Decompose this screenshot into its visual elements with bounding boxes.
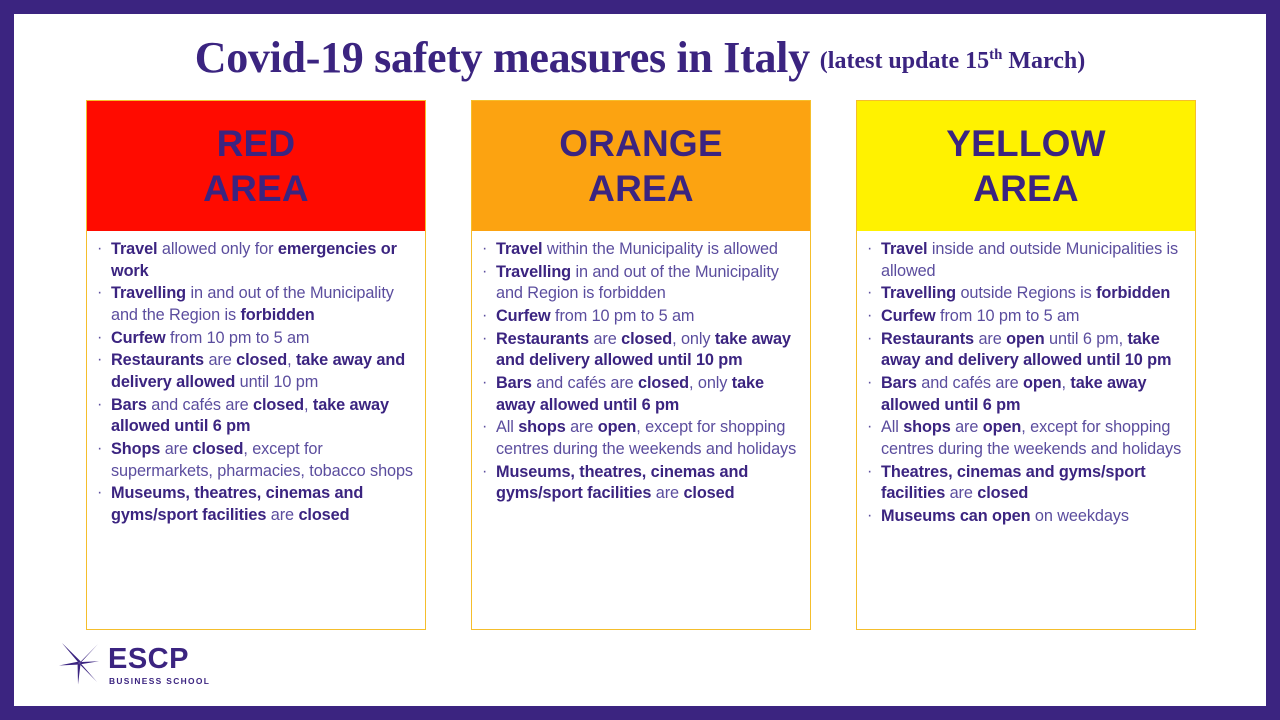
measure-emphasis: Travel bbox=[881, 240, 927, 258]
measure-text: All bbox=[881, 418, 903, 436]
bullet-icon: · bbox=[482, 416, 487, 437]
bullet-icon: · bbox=[867, 505, 872, 526]
measure-text: are bbox=[204, 351, 236, 369]
bullet-icon: · bbox=[97, 282, 102, 303]
measure-list: ·Travel within the Municipality is allow… bbox=[481, 239, 800, 505]
measure-emphasis: Curfew bbox=[496, 307, 551, 325]
list-item: ·Restaurants are closed, only take away … bbox=[481, 329, 800, 372]
bullet-icon: · bbox=[97, 349, 102, 370]
measure-emphasis: shops bbox=[903, 418, 950, 436]
measure-text: are bbox=[160, 440, 192, 458]
bullet-icon: · bbox=[867, 372, 872, 393]
measure-emphasis: closed bbox=[253, 396, 304, 414]
page-title: Covid-19 safety measures in Italy(latest… bbox=[14, 32, 1266, 83]
measure-text: are bbox=[945, 484, 977, 502]
escp-logo-text: ESCP BUSINESS SCHOOL bbox=[108, 645, 210, 685]
measure-emphasis: Restaurants bbox=[496, 330, 589, 348]
area-header-line1: YELLOW bbox=[946, 121, 1105, 166]
list-item: ·Travel within the Municipality is allow… bbox=[481, 239, 800, 261]
bullet-icon: · bbox=[482, 461, 487, 482]
title-main-text: Covid-19 safety measures in Italy bbox=[195, 33, 810, 82]
measure-text: are bbox=[566, 418, 598, 436]
measure-emphasis: closed bbox=[977, 484, 1028, 502]
list-item: ·Restaurants are open until 6 pm, take a… bbox=[866, 329, 1185, 372]
area-header-line1: ORANGE bbox=[559, 121, 723, 166]
measure-text: and cafés are bbox=[532, 374, 638, 392]
list-item: ·Travelling outside Regions is forbidden bbox=[866, 283, 1185, 305]
area-card-red: REDAREA·Travel allowed only for emergenc… bbox=[86, 100, 426, 630]
measure-text: allowed only for bbox=[157, 240, 277, 258]
bullet-icon: · bbox=[867, 282, 872, 303]
area-card-orange: ORANGEAREA·Travel within the Municipalit… bbox=[471, 100, 811, 630]
measure-text: , only bbox=[689, 374, 732, 392]
measure-text: are bbox=[651, 484, 683, 502]
bullet-icon: · bbox=[97, 238, 102, 259]
list-item: ·Museums, theatres, cinemas and gyms/spo… bbox=[481, 462, 800, 505]
list-item: ·Travelling in and out of the Municipali… bbox=[481, 262, 800, 305]
measure-text: on weekdays bbox=[1031, 507, 1129, 525]
measure-emphasis: shops bbox=[518, 418, 565, 436]
list-item: ·Travel inside and outside Municipalitie… bbox=[866, 239, 1185, 282]
list-item: · Shops are closed, except for supermark… bbox=[96, 439, 415, 482]
measure-emphasis: Travelling bbox=[496, 263, 571, 281]
list-item: ·Bars and cafés are closed, only take aw… bbox=[481, 373, 800, 416]
bullet-icon: · bbox=[97, 327, 102, 348]
list-item: ·Travelling in and out of the Municipali… bbox=[96, 283, 415, 326]
list-item: ·Restaurants are closed, take away and d… bbox=[96, 350, 415, 393]
area-body-red: ·Travel allowed only for emergencies or … bbox=[87, 231, 425, 629]
measure-text: until 6 pm, bbox=[1045, 330, 1128, 348]
measure-emphasis: Bars bbox=[881, 374, 917, 392]
slide-content-area: Covid-19 safety measures in Italy(latest… bbox=[14, 14, 1266, 706]
title-note-superscript: th bbox=[989, 47, 1002, 63]
bullet-icon: · bbox=[482, 328, 487, 349]
measure-text: All bbox=[496, 418, 518, 436]
area-header-red: REDAREA bbox=[87, 101, 425, 231]
measure-emphasis: closed bbox=[638, 374, 689, 392]
area-columns: REDAREA·Travel allowed only for emergenc… bbox=[86, 100, 1196, 630]
measure-emphasis: Travel bbox=[496, 240, 542, 258]
bullet-icon: · bbox=[97, 394, 102, 415]
list-item: ·Museums, theatres, cinemas and gyms/spo… bbox=[96, 483, 415, 526]
measure-emphasis: Restaurants bbox=[881, 330, 974, 348]
measure-emphasis: Bars bbox=[111, 396, 147, 414]
measure-text: outside Regions is bbox=[956, 284, 1096, 302]
area-body-yellow: ·Travel inside and outside Municipalitie… bbox=[857, 231, 1195, 629]
bullet-icon: · bbox=[97, 482, 102, 503]
measure-emphasis: closed bbox=[621, 330, 672, 348]
bullet-icon: · bbox=[867, 461, 872, 482]
measure-text: until 10 pm bbox=[235, 373, 318, 391]
slide: Covid-19 safety measures in Italy(latest… bbox=[0, 0, 1280, 720]
measure-emphasis: forbidden bbox=[240, 306, 314, 324]
bullet-icon: · bbox=[482, 238, 487, 259]
measure-text: and cafés are bbox=[917, 374, 1023, 392]
bullet-icon: · bbox=[482, 305, 487, 326]
area-header-line1: RED bbox=[217, 121, 296, 166]
measure-text: , bbox=[304, 396, 313, 414]
list-item: ·Museums can open on weekdays bbox=[866, 506, 1185, 528]
escp-tagline: BUSINESS SCHOOL bbox=[109, 677, 210, 685]
measure-text: and cafés are bbox=[147, 396, 253, 414]
measure-text: from 10 pm to 5 am bbox=[551, 307, 695, 325]
list-item: ·All shops are open, except for shopping… bbox=[481, 417, 800, 460]
list-item: ·All shops are open, except for shopping… bbox=[866, 417, 1185, 460]
escp-name: ESCP bbox=[108, 645, 210, 674]
list-item: ·Curfew from 10 pm to 5 am bbox=[866, 306, 1185, 328]
measure-emphasis: Shops bbox=[111, 440, 160, 458]
area-card-yellow: YELLOWAREA·Travel inside and outside Mun… bbox=[856, 100, 1196, 630]
measure-emphasis: open bbox=[598, 418, 637, 436]
measure-text: from 10 pm to 5 am bbox=[166, 329, 310, 347]
measure-emphasis: closed bbox=[236, 351, 287, 369]
measure-list: ·Travel allowed only for emergencies or … bbox=[96, 239, 415, 527]
area-header-line2: AREA bbox=[588, 166, 694, 211]
area-header-line2: AREA bbox=[973, 166, 1079, 211]
title-note-prefix: (latest update 15 bbox=[820, 48, 989, 74]
escp-star-icon bbox=[58, 641, 100, 690]
measure-emphasis: Museums can open bbox=[881, 507, 1031, 525]
measure-emphasis: closed bbox=[298, 506, 349, 524]
escp-logo: ESCP BUSINESS SCHOOL bbox=[58, 641, 210, 690]
bullet-icon: · bbox=[867, 416, 872, 437]
measure-text: within the Municipality is allowed bbox=[542, 240, 777, 258]
area-header-line2: AREA bbox=[203, 166, 309, 211]
measure-emphasis: closed bbox=[192, 440, 243, 458]
measure-emphasis: open bbox=[1006, 330, 1045, 348]
measure-text: , bbox=[287, 351, 296, 369]
measure-list: ·Travel inside and outside Municipalitie… bbox=[866, 239, 1185, 528]
list-item: ·Travel allowed only for emergencies or … bbox=[96, 239, 415, 282]
measure-emphasis: Curfew bbox=[111, 329, 166, 347]
measure-emphasis: Curfew bbox=[881, 307, 936, 325]
measure-emphasis: open bbox=[983, 418, 1022, 436]
measure-text: are bbox=[951, 418, 983, 436]
area-body-orange: ·Travel within the Municipality is allow… bbox=[472, 231, 810, 629]
title-note-suffix: March) bbox=[1002, 48, 1085, 74]
measure-emphasis: Travelling bbox=[111, 284, 186, 302]
bullet-icon: · bbox=[482, 372, 487, 393]
list-item: ·Bars and cafés are open, take away allo… bbox=[866, 373, 1185, 416]
measure-text: are bbox=[589, 330, 621, 348]
area-header-orange: ORANGEAREA bbox=[472, 101, 810, 231]
measure-emphasis: Restaurants bbox=[111, 351, 204, 369]
measure-text: are bbox=[974, 330, 1006, 348]
measure-emphasis: Bars bbox=[496, 374, 532, 392]
measure-emphasis: closed bbox=[683, 484, 734, 502]
measure-text: from 10 pm to 5 am bbox=[936, 307, 1080, 325]
bullet-icon: · bbox=[867, 238, 872, 259]
bullet-icon: · bbox=[482, 261, 487, 282]
bullet-icon: · bbox=[867, 328, 872, 349]
title-update-note: (latest update 15th March) bbox=[820, 48, 1085, 74]
list-item: ·Curfew from 10 pm to 5 am bbox=[481, 306, 800, 328]
list-item: ·Bars and cafés are closed, take away al… bbox=[96, 395, 415, 438]
measure-text: are bbox=[266, 506, 298, 524]
measure-emphasis: Travelling bbox=[881, 284, 956, 302]
bullet-icon: · bbox=[97, 438, 102, 459]
bullet-icon: · bbox=[867, 305, 872, 326]
measure-text: , only bbox=[672, 330, 715, 348]
measure-emphasis: Travel bbox=[111, 240, 157, 258]
list-item: ·Theatres, cinemas and gyms/sport facili… bbox=[866, 462, 1185, 505]
measure-emphasis: open bbox=[1023, 374, 1062, 392]
measure-emphasis: forbidden bbox=[1096, 284, 1170, 302]
area-header-yellow: YELLOWAREA bbox=[857, 101, 1195, 231]
list-item: ·Curfew from 10 pm to 5 am bbox=[96, 328, 415, 350]
